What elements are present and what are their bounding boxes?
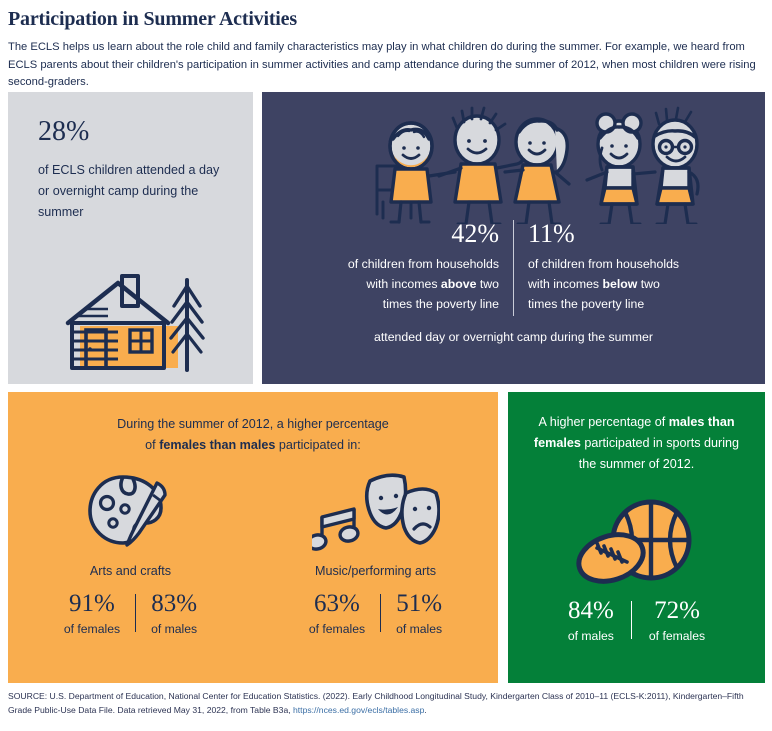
music-males-value: 51%	[396, 590, 442, 618]
cabin-and-pine-tree-icon	[8, 268, 253, 376]
females-heading-bold: females than males	[159, 438, 275, 452]
sports-females-label: of females	[649, 629, 705, 643]
income-panel-footer: attended day or overnight camp during th…	[262, 330, 765, 344]
source-link[interactable]: https://nces.ed.gov/ecls/tables.asp	[293, 705, 424, 715]
income-stat-above-value: 42%	[305, 220, 499, 247]
camp-panel-content: 28% of ECLS children attended a day or o…	[8, 92, 253, 223]
below-line3: times the poverty line	[528, 297, 644, 311]
income-panel: 42% of children from households with inc…	[262, 92, 765, 384]
camp-stat-value: 28%	[38, 118, 227, 146]
arts-females-stat: 91% of females	[49, 590, 135, 636]
females-heading-post: participated in:	[275, 438, 360, 452]
paint-palette-and-brush-icon	[85, 470, 177, 556]
arts-males-value: 83%	[151, 590, 197, 618]
sports-males-label: of males	[568, 629, 614, 643]
income-stat-above-description: of children from households with incomes…	[305, 254, 499, 314]
below-line2-pre: with incomes	[528, 277, 603, 291]
income-stats: 42% of children from households with inc…	[262, 220, 765, 316]
arts-females-label: of females	[64, 622, 120, 636]
page-title: Participation in Summer Activities	[8, 8, 764, 31]
sports-females-stat: 72% of females	[632, 597, 722, 643]
music-males-stat: 51% of males	[381, 590, 457, 636]
camp-panel: 28% of ECLS children attended a day or o…	[8, 92, 253, 384]
below-line1: of children from households	[528, 257, 679, 271]
males-heading-post: participated in sports during the summer…	[579, 436, 739, 471]
panel-row-top: 28% of ECLS children attended a day or o…	[8, 92, 765, 384]
arts-females-value: 91%	[64, 590, 120, 618]
males-panel: A higher percentage of males than female…	[508, 392, 765, 683]
activity-music-stats: 63% of females 51% of males	[294, 590, 457, 636]
income-stat-below: 11% of children from households with inc…	[514, 220, 736, 314]
above-line2-bold: above	[441, 277, 477, 291]
music-males-label: of males	[396, 622, 442, 636]
above-line1: of children from households	[348, 257, 499, 271]
sports-males-stat: 84% of males	[551, 597, 631, 643]
females-heading-line1: During the summer of 2012, a higher perc…	[117, 417, 389, 431]
females-heading-pre: of	[145, 438, 159, 452]
activity-arts-label: Arts and crafts	[90, 564, 171, 578]
camp-stat-description: of ECLS children attended a day or overn…	[38, 160, 227, 223]
income-stat-above: 42% of children from households with inc…	[291, 220, 513, 314]
infographic-page: Participation in Summer Activities The E…	[0, 0, 772, 731]
above-line3: times the poverty line	[383, 297, 499, 311]
arts-males-label: of males	[151, 622, 197, 636]
activity-music-label: Music/performing arts	[315, 564, 436, 578]
intro-paragraph: The ECLS helps us learn about the role c…	[8, 39, 756, 92]
income-stat-below-value: 11%	[528, 220, 722, 247]
header: Participation in Summer Activities The E…	[0, 0, 772, 92]
music-females-stat: 63% of females	[294, 590, 380, 636]
activity-arts-and-crafts: Arts and crafts 91% of females 83% of ma…	[8, 470, 253, 636]
sports-females-value: 72%	[649, 597, 705, 625]
music-females-value: 63%	[309, 590, 365, 618]
below-line2-post: two	[637, 277, 660, 291]
arts-males-stat: 83% of males	[136, 590, 212, 636]
music-females-label: of females	[309, 622, 365, 636]
music-notes-and-theater-masks-icon	[312, 470, 440, 556]
activity-arts-stats: 91% of females 83% of males	[49, 590, 212, 636]
source-note: SOURCE: U.S. Department of Education, Na…	[8, 690, 765, 717]
source-period: .	[424, 705, 426, 715]
panel-row-bottom: During the summer of 2012, a higher perc…	[8, 392, 765, 683]
males-heading-pre: A higher percentage of	[538, 415, 668, 429]
females-panel: During the summer of 2012, a higher perc…	[8, 392, 498, 683]
males-panel-stats: 84% of males 72% of females	[508, 597, 765, 643]
males-panel-heading: A higher percentage of males than female…	[508, 392, 765, 475]
females-panel-heading: During the summer of 2012, a higher perc…	[8, 392, 498, 456]
below-line2-bold: below	[603, 277, 638, 291]
sports-males-value: 84%	[568, 597, 614, 625]
activity-music-performing-arts: Music/performing arts 63% of females 51%…	[253, 470, 498, 636]
income-stat-below-description: of children from households with incomes…	[528, 254, 722, 314]
above-line2-post: two	[476, 277, 499, 291]
above-line2-pre: with incomes	[366, 277, 441, 291]
group-of-children-icon	[262, 106, 765, 224]
females-activity-columns: Arts and crafts 91% of females 83% of ma…	[8, 470, 498, 636]
basketball-and-football-icon	[508, 496, 765, 588]
